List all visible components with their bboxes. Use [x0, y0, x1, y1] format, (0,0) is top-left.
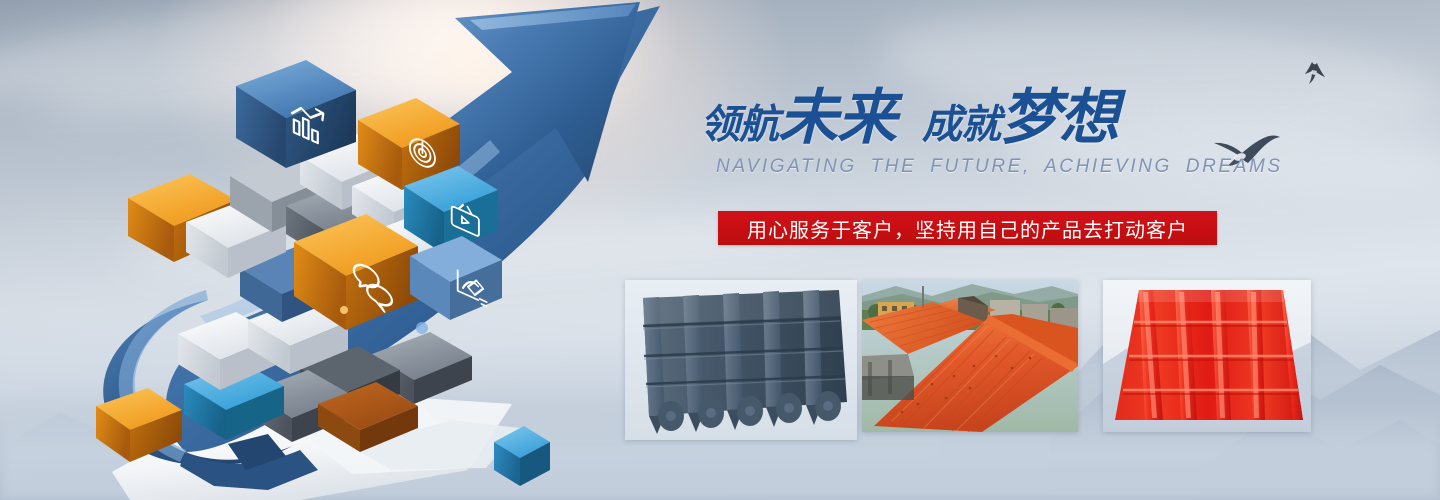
- headline-part1-small: 领航: [700, 103, 778, 147]
- product-photo-orange-roof[interactable]: [862, 280, 1078, 432]
- subheadline: NAVIGATING THE FUTURE, ACHIEVING DREAMS: [716, 156, 1240, 178]
- product-photo-red-tile[interactable]: [1103, 280, 1311, 432]
- product-photo-dark-blue-tile[interactable]: [625, 280, 857, 440]
- headline-part2-small: 成就: [922, 103, 1000, 147]
- slogan-text: 用心服务于客户，坚持用自己的产品去打动客户: [747, 214, 1188, 243]
- page-title: 领航未来成就梦想: [700, 88, 1240, 148]
- eagle-upper-icon: [1296, 58, 1330, 88]
- headline-part1-large: 未来: [778, 84, 896, 151]
- promotional-banner: 领航未来成就梦想 NAVIGATING THE FUTURE, ACHIEVIN…: [0, 0, 1440, 500]
- slogan-bar: 用心服务于客户，坚持用自己的产品去打动客户: [718, 211, 1217, 245]
- headline-part2-large: 梦想: [1000, 84, 1118, 151]
- rubiks-cube-cluster: [128, 60, 502, 452]
- growth-arrow-cube-graphic: [0, 0, 700, 500]
- headline-block: 领航未来成就梦想 NAVIGATING THE FUTURE, ACHIEVIN…: [700, 88, 1240, 178]
- blue-cube-floating: [492, 424, 556, 500]
